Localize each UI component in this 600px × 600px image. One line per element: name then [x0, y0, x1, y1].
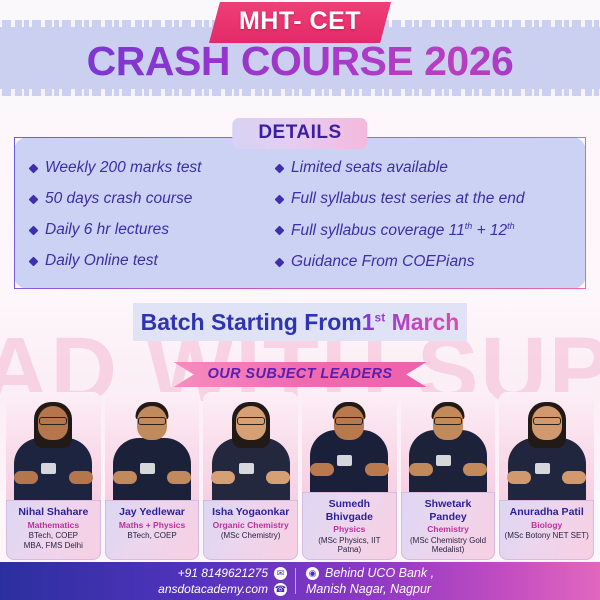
contact-footer: +91 8149621275 ✉ ansdotacademy.com ☎ ◉ B…: [0, 562, 600, 600]
faculty-qualification: (MSc Physics, IIT Patna): [306, 536, 393, 555]
shirt-logo-icon: [41, 463, 56, 474]
faculty-subject: Biology: [503, 520, 590, 531]
details-column-left: Weekly 200 marks test 50 days crash cour…: [30, 159, 276, 289]
faculty-photo: [302, 392, 397, 492]
details-badge: DETAILS: [232, 118, 367, 149]
header-section: MHT- CET CRASH COURSE 2026: [0, 0, 600, 112]
person-arm: [113, 471, 137, 484]
glasses-icon: [335, 417, 363, 425]
faculty-info: Jay YedlewarMaths + PhysicsBTech, COEP: [105, 500, 200, 560]
faculty-card: Shwetark PandeyChemistry(MSc Chemistry G…: [401, 392, 496, 560]
phone-icon: ☎: [274, 583, 287, 596]
shirt-logo-icon: [140, 463, 155, 474]
person-arm: [409, 463, 433, 476]
diamond-bullet-icon: [275, 226, 285, 236]
person-arm: [365, 463, 389, 476]
footer-address: ◉ Behind UCO Bank , Manish Nagar, Nagpur: [296, 566, 600, 596]
detail-item: Weekly 200 marks test: [30, 159, 276, 177]
batch-start-banner: Batch Starting From 1st March: [133, 303, 467, 341]
page-title: CRASH COURSE 2026: [0, 38, 600, 85]
shirt-logo-icon: [436, 455, 451, 466]
diamond-bullet-icon: [275, 164, 285, 174]
batch-label: Batch Starting From: [141, 309, 362, 336]
detail-item: Limited seats available: [276, 159, 590, 177]
faculty-card: Jay YedlewarMaths + PhysicsBTech, COEP: [105, 392, 200, 560]
faculty-subject: Mathematics: [10, 520, 97, 531]
glasses-icon: [138, 417, 166, 425]
person-arm: [211, 471, 235, 484]
glasses-icon: [533, 417, 561, 425]
person-illustration: [401, 392, 496, 492]
website-line[interactable]: ansdotacademy.com ☎: [158, 582, 287, 596]
faculty-subject: Organic Chemistry: [207, 520, 294, 531]
diamond-bullet-icon: [29, 226, 39, 236]
glasses-icon: [237, 417, 265, 425]
website-url: ansdotacademy.com: [158, 582, 268, 596]
faculty-info: Isha YogaonkarOrganic Chemistry(MSc Chem…: [203, 500, 298, 560]
address-line: ◉ Behind UCO Bank ,: [306, 566, 600, 580]
faculty-name: Nihal Shahare: [10, 506, 97, 519]
glasses-icon: [434, 417, 462, 425]
shirt-logo-icon: [239, 463, 254, 474]
address-text: Manish Nagar, Nagpur: [306, 582, 431, 596]
faculty-photo: [6, 392, 101, 500]
faculty-info: Nihal ShahareMathematicsBTech, COEP MBA,…: [6, 500, 101, 560]
detail-text: Full syllabus coverage 11th + 12th: [291, 221, 515, 240]
person-illustration: [105, 392, 200, 500]
person-illustration: [203, 392, 298, 500]
faculty-subject: Chemistry: [405, 524, 492, 535]
person-arm: [463, 463, 487, 476]
faculty-qualification: BTech, COEP MBA, FMS Delhi: [10, 531, 97, 550]
faculty-photo: [499, 392, 594, 500]
faculty-name: Anuradha Patil: [503, 506, 590, 519]
faculty-card: Isha YogaonkarOrganic Chemistry(MSc Chem…: [203, 392, 298, 560]
diamond-bullet-icon: [275, 258, 285, 268]
diamond-bullet-icon: [275, 195, 285, 205]
faculty-qualification: BTech, COEP: [109, 531, 196, 541]
phone-line[interactable]: +91 8149621275 ✉: [178, 566, 287, 580]
detail-item: Full syllabus test series at the end: [276, 190, 590, 208]
shirt-logo-icon: [535, 463, 550, 474]
person-arm: [14, 471, 38, 484]
faculty-name: Shwetark Pandey: [405, 498, 492, 523]
address-text: Behind UCO Bank ,: [325, 566, 434, 580]
faculty-subject: Maths + Physics: [109, 520, 196, 531]
person-illustration: [499, 392, 594, 500]
person-arm: [310, 463, 334, 476]
person-illustration: [6, 392, 101, 500]
faculty-name: Sumedh Bhivgade: [306, 498, 393, 523]
faculty-list: Nihal ShahareMathematicsBTech, COEP MBA,…: [6, 392, 594, 560]
faculty-qualification: (MSc Botony NET SET): [503, 531, 590, 541]
faculty-card: Anuradha PatilBiology(MSc Botony NET SET…: [499, 392, 594, 560]
detail-text: Daily Online test: [45, 252, 158, 270]
exam-badge: MHT- CET: [209, 2, 391, 43]
person-arm: [167, 471, 191, 484]
detail-item: Daily 6 hr lectures: [30, 221, 276, 239]
faculty-name: Jay Yedlewar: [109, 506, 196, 519]
person-illustration: [302, 392, 397, 492]
details-column-right: Limited seats available Full syllabus te…: [276, 159, 590, 289]
mail-icon: ✉: [274, 567, 287, 580]
detail-item: 50 days crash course: [30, 190, 276, 208]
faculty-photo: [203, 392, 298, 500]
faculty-info: Sumedh BhivgadePhysics(MSc Physics, IIT …: [302, 492, 397, 560]
person-arm: [562, 471, 586, 484]
person-arm: [507, 471, 531, 484]
detail-text: Weekly 200 marks test: [45, 159, 202, 177]
glasses-icon: [39, 417, 67, 425]
detail-item: Daily Online test: [30, 252, 276, 270]
diamond-bullet-icon: [29, 195, 39, 205]
detail-text: Guidance From COEPians: [291, 253, 475, 271]
faculty-info: Anuradha PatilBiology(MSc Botony NET SET…: [499, 500, 594, 560]
faculty-subject: Physics: [306, 524, 393, 535]
shirt-logo-icon: [337, 455, 352, 466]
faculty-card: Sumedh BhivgadePhysics(MSc Physics, IIT …: [302, 392, 397, 560]
faculty-qualification: (MSc Chemistry): [207, 531, 294, 541]
person-arm: [266, 471, 290, 484]
diamond-bullet-icon: [29, 164, 39, 174]
detail-text: Daily 6 hr lectures: [45, 221, 169, 239]
detail-text: Full syllabus test series at the end: [291, 190, 524, 208]
faculty-name: Isha Yogaonkar: [207, 506, 294, 519]
person-arm: [69, 471, 93, 484]
faculty-card: Nihal ShahareMathematicsBTech, COEP MBA,…: [6, 392, 101, 560]
batch-date: 1st March: [362, 309, 460, 336]
location-pin-icon: ◉: [306, 567, 319, 580]
details-content: Weekly 200 marks test 50 days crash cour…: [14, 137, 586, 289]
faculty-photo: [105, 392, 200, 500]
detail-item-syllabus: Full syllabus coverage 11th + 12th: [276, 221, 590, 240]
detail-text: 50 days crash course: [45, 190, 192, 208]
faculty-info: Shwetark PandeyChemistry(MSc Chemistry G…: [401, 492, 496, 560]
subject-leaders-ribbon: OUR SUBJECT LEADERS: [174, 362, 427, 387]
detail-item: Guidance From COEPians: [276, 253, 590, 271]
footer-contact-left: +91 8149621275 ✉ ansdotacademy.com ☎: [0, 566, 295, 596]
phone-number: +91 8149621275: [178, 566, 268, 580]
diamond-bullet-icon: [29, 257, 39, 267]
address-line: Manish Nagar, Nagpur: [306, 582, 600, 596]
detail-text: Limited seats available: [291, 159, 448, 177]
faculty-qualification: (MSc Chemistry Gold Medalist): [405, 536, 492, 555]
faculty-photo: [401, 392, 496, 492]
